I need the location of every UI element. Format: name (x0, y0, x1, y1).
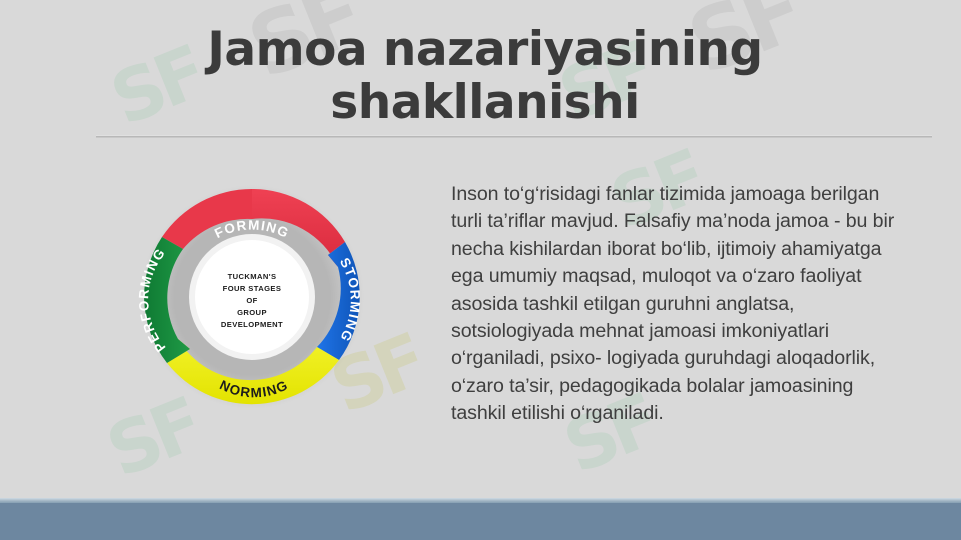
center-line-0: TUCKMAN'S (228, 272, 277, 281)
tuckman-cycle-diagram: FORMING STORMING NORMING PERFORMING TUCK… (138, 183, 366, 411)
center-line-3: GROUP (237, 308, 267, 317)
bottom-bar-fill (0, 503, 961, 540)
center-line-2: OF (246, 296, 257, 305)
title-divider (96, 135, 932, 138)
slide-canvas: SF SF SF SF SF SF SF SF Jamoa nazariyasi… (0, 0, 961, 540)
body-paragraph: Inson to‘g‘risidagi fanlar tizimida jamo… (451, 181, 913, 428)
center-line-1: FOUR STAGES (223, 284, 282, 293)
center-line-4: DEVELOPMENT (221, 320, 283, 329)
bottom-accent-bar (0, 498, 961, 540)
slide-title-block: Jamoa nazariyasining shakllanishi (90, 24, 880, 129)
page-title: Jamoa nazariyasining shakllanishi (90, 24, 880, 129)
